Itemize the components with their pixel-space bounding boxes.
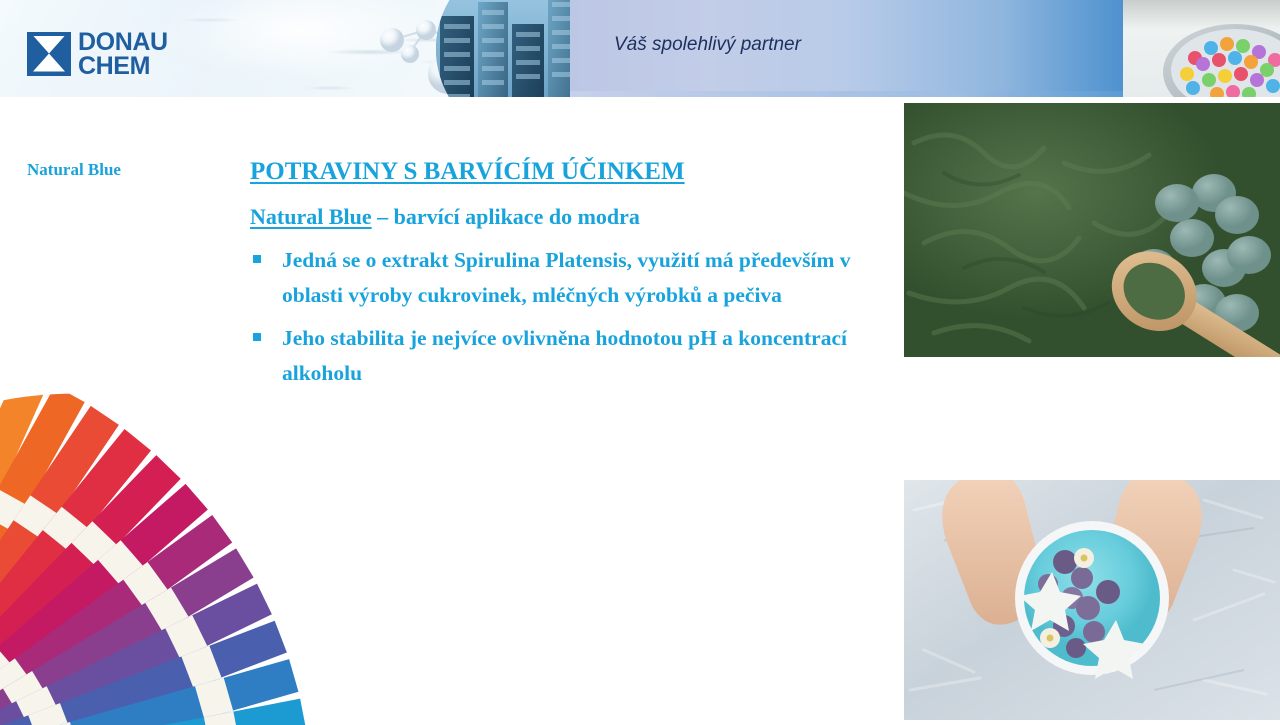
blue-smoothie-bowl-photo [904,480,1280,720]
subheading: Natural Blue – barvící aplikace do modra [250,202,890,231]
slide-content: POTRAVINY S BARVÍCÍM ÚČINKEM Natural Blu… [250,155,890,398]
header-banner: Váš spolehlivý partner [0,0,1280,97]
logo-wordmark: DONAU CHEM [78,30,168,78]
bullet-list: Jedná se o extrakt Spirulina Platensis, … [250,243,890,391]
logo-line-donau: DONAU [78,30,168,54]
color-swatch-fan-photo [0,375,512,725]
subheading-product-name: Natural Blue [250,204,372,229]
tagline-text: Váš spolehlivý partner [614,34,801,56]
tagline-panel-shadow [570,91,1123,97]
donau-chem-logo: DONAU CHEM [27,30,167,77]
tagline-panel: Váš spolehlivý partner [570,0,1123,91]
page-title: POTRAVINY S BARVÍCÍM ÚČINKEM [250,155,685,188]
list-item-text: Jedná se o extrakt Spirulina Platensis, … [282,248,851,307]
logo-line-chem: CHEM [78,54,168,78]
donau-chem-hourglass-mark [27,32,71,76]
square-bullet-icon [253,333,261,341]
list-item: Jedná se o extrakt Spirulina Platensis, … [250,243,890,314]
subheading-description: – barvící aplikace do modra [372,204,640,229]
square-bullet-icon [253,255,261,263]
side-label-natural-blue: Natural Blue [27,160,121,180]
spirulina-powder-photo [904,103,1280,357]
candy-bowl-photo [1123,0,1280,97]
